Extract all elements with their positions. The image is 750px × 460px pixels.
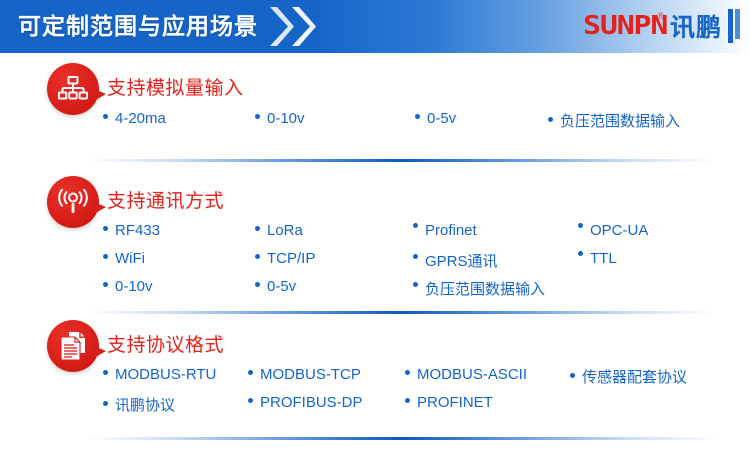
header-banner: 可定制范围与应用场景 SUNPN ® 讯鹏 [0,0,750,53]
section-communication: 支持通讯方式 RF433 LoRa Profinet OPC-UA [0,176,750,222]
bullet-icon [413,254,418,259]
section-title: 支持模拟量输入 [107,73,244,100]
chevron-right-icon-2 [290,5,316,48]
bullet-icon [415,114,420,119]
bullet-icon [248,398,253,403]
section-header: 支持通讯方式 [0,176,750,222]
section-items: MODBUS-RTU MODBUS-TCP MODBUS-ASCII 传感器配套… [0,366,750,422]
list-item: PROFIBUS-DP [248,394,363,411]
bullet-icon [405,370,410,375]
logo-sunpn-text: SUNPN [583,11,667,41]
bullet-icon [103,282,108,287]
list-item-label: WiFi [115,250,145,267]
bullet-icon [413,223,418,228]
bullet-icon [103,226,108,231]
item-row: RF433 LoRa Profinet OPC-UA [0,222,750,250]
list-item: TCP/IP [255,250,315,267]
list-item-label: MODBUS-ASCII [417,366,527,383]
list-item: 0-10v [103,278,153,295]
section-title: 支持通讯方式 [107,186,224,213]
list-item: RF433 [103,222,160,239]
list-item-label: 0-5v [427,110,456,127]
section-header: 支持模拟量输入 [0,63,750,109]
list-item: MODBUS-TCP [248,366,361,383]
bullet-icon [255,114,260,119]
list-item: 4-20ma [103,110,166,127]
list-item: 0-10v [255,110,305,127]
list-item-label: GPRS通讯 [425,250,498,271]
logo-bars-icon [728,9,740,43]
bullet-icon [548,117,553,122]
document-icon [47,320,99,372]
list-item-label: 0-5v [267,278,296,295]
list-item-label: PROFINET [417,394,493,411]
list-item-label: 传感器配套协议 [582,366,687,387]
list-item-label: 讯鹏协议 [115,394,175,415]
list-item: MODBUS-ASCII [405,366,527,383]
list-item-label: 负压范围数据输入 [560,110,680,131]
list-item: TTL [578,250,617,267]
bullet-icon [405,398,410,403]
list-item-label: TTL [590,250,617,267]
bullet-icon [255,226,260,231]
list-item: 负压范围数据输入 [548,110,680,131]
section-header: 支持协议格式 [0,320,750,366]
list-item-label: RF433 [115,222,160,239]
section-items: RF433 LoRa Profinet OPC-UA WiFi TCP [0,222,750,306]
list-item-label: 4-20ma [115,110,166,127]
list-item: Profinet [413,222,477,239]
bullet-icon [255,254,260,259]
list-item-label: OPC-UA [590,222,648,239]
item-row: WiFi TCP/IP GPRS通讯 TTL [0,250,750,278]
bullet-icon [578,223,583,228]
list-item-label: LoRa [267,222,303,239]
list-item: LoRa [255,222,303,239]
list-item-label: PROFIBUS-DP [260,394,363,411]
list-item: WiFi [103,250,145,267]
list-item-label: Profinet [425,222,477,239]
section-divider-1 [85,159,717,162]
list-item-label: MODBUS-TCP [260,366,361,383]
item-row: MODBUS-RTU MODBUS-TCP MODBUS-ASCII 传感器配套… [0,366,750,394]
bullet-icon [103,370,108,375]
bullet-icon [103,114,108,119]
wireless-antenna-icon [47,176,99,228]
bullet-icon [103,401,108,406]
list-item: PROFINET [405,394,493,411]
section-items: 4-20ma 0-10v 0-5v 负压范围数据输入 [0,110,750,138]
list-item-label: TCP/IP [267,250,315,267]
item-row: 0-10v 0-5v 负压范围数据输入 [0,278,750,306]
bullet-icon [255,282,260,287]
list-item: GPRS通讯 [413,250,498,271]
list-item: MODBUS-RTU [103,366,216,383]
section-divider-3 [85,437,717,440]
bullet-icon [570,373,575,378]
registered-trademark-icon: ® [657,11,664,21]
bullet-icon [103,254,108,259]
section-protocol-format: 支持协议格式 MODBUS-RTU MODBUS-TCP MODBUS-ASCI… [0,320,750,366]
section-divider-2 [85,311,717,314]
list-item-label: 负压范围数据输入 [425,278,545,299]
list-item-label: MODBUS-RTU [115,366,216,383]
list-item: OPC-UA [578,222,648,239]
bullet-icon [248,370,253,375]
list-item: 讯鹏协议 [103,394,175,415]
list-item: 0-5v [255,278,296,295]
bullet-icon [413,282,418,287]
list-item-label: 0-10v [267,110,305,127]
banner-title: 可定制范围与应用场景 [18,9,258,43]
list-item: 传感器配套协议 [570,366,687,387]
sitemap-icon [47,63,99,115]
bullet-icon [578,251,583,256]
logo-chinese-text: 讯鹏 [670,8,722,44]
list-item: 0-5v [415,110,456,127]
item-row: 讯鹏协议 PROFIBUS-DP PROFINET [0,394,750,422]
list-item-label: 0-10v [115,278,153,295]
section-title: 支持协议格式 [107,330,224,357]
brand-logo: SUNPN ® 讯鹏 [583,6,740,46]
section-analog-input: 支持模拟量输入 4-20ma 0-10v 0-5v 负压范围数据输入 [0,63,750,109]
list-item: 负压范围数据输入 [413,278,545,299]
item-row: 4-20ma 0-10v 0-5v 负压范围数据输入 [0,110,750,138]
